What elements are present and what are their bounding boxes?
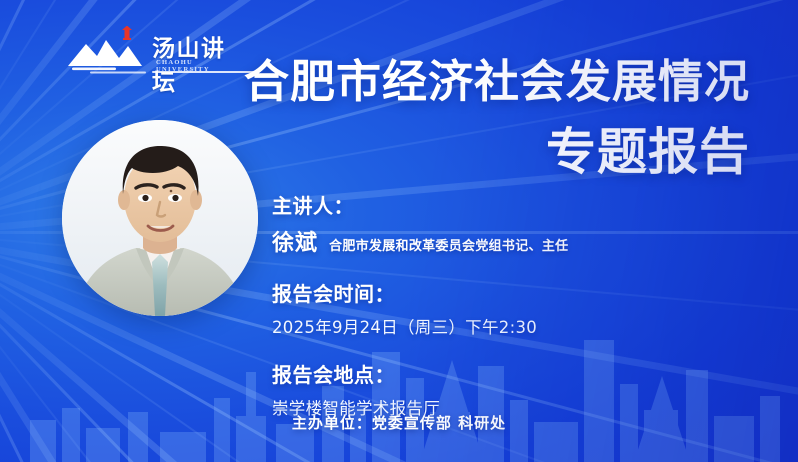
mountain-pagoda-icon xyxy=(66,26,158,74)
page-title: 合肥市经济社会发展情况 专题报告 xyxy=(190,58,750,179)
speaker-label: 主讲人： xyxy=(272,190,702,219)
place-label: 报告会地点： xyxy=(272,359,702,388)
speaker-name: 徐斌 xyxy=(272,225,318,257)
event-poster: 汤山讲坛 CHAOHU UNIVERSITY xyxy=(0,0,798,462)
time-value: 2025年9月24日（周三）下午2:30 xyxy=(272,314,702,338)
title-line-2: 专题报告 xyxy=(190,126,750,179)
time-label: 报告会时间： xyxy=(272,278,702,307)
speaker-role: 合肥市发展和改革委员会党组书记、主任 xyxy=(329,235,568,254)
title-line-1: 合肥市经济社会发展情况 xyxy=(190,58,750,105)
event-details: 主讲人： 徐斌 合肥市发展和改革委员会党组书记、主任 报告会时间： 2025年9… xyxy=(272,190,702,419)
organizer-text: 主办单位：党委宣传部 科研处 xyxy=(292,414,506,432)
speaker-row: 徐斌 合肥市发展和改革委员会党组书记、主任 xyxy=(272,225,702,257)
organizer-footer: 主办单位：党委宣传部 科研处 xyxy=(0,412,798,433)
